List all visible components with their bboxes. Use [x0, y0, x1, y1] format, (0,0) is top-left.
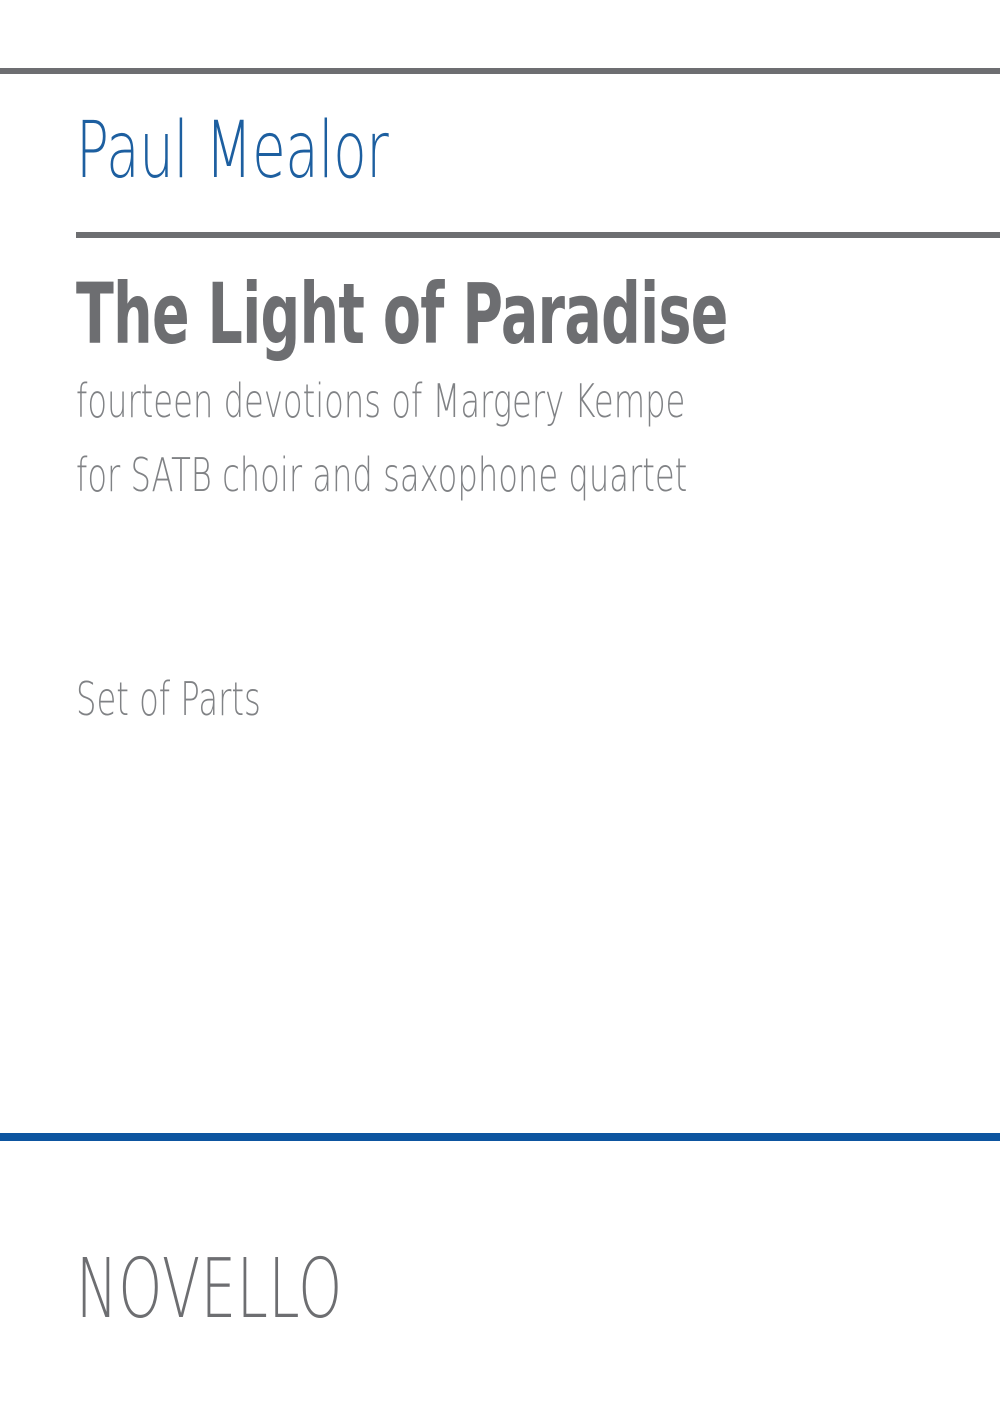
work-subtitle-instrumentation: for SATB choir and saxophone quartet [76, 452, 687, 498]
top-divider-rule [0, 68, 1000, 74]
edition-label: Set of Parts [76, 676, 261, 722]
composer-name: Paul Mealor [76, 112, 388, 190]
page-title: The Light of Paradise [76, 272, 728, 356]
publisher-divider-rule [0, 1133, 1000, 1141]
score-cover-page: Paul Mealor The Light of Paradise fourte… [0, 0, 1000, 1414]
composer-divider-rule [76, 232, 1000, 238]
publisher-logo: NOVELLO [76, 1249, 343, 1331]
work-subtitle-description: fourteen devotions of Margery Kempe [76, 378, 685, 424]
